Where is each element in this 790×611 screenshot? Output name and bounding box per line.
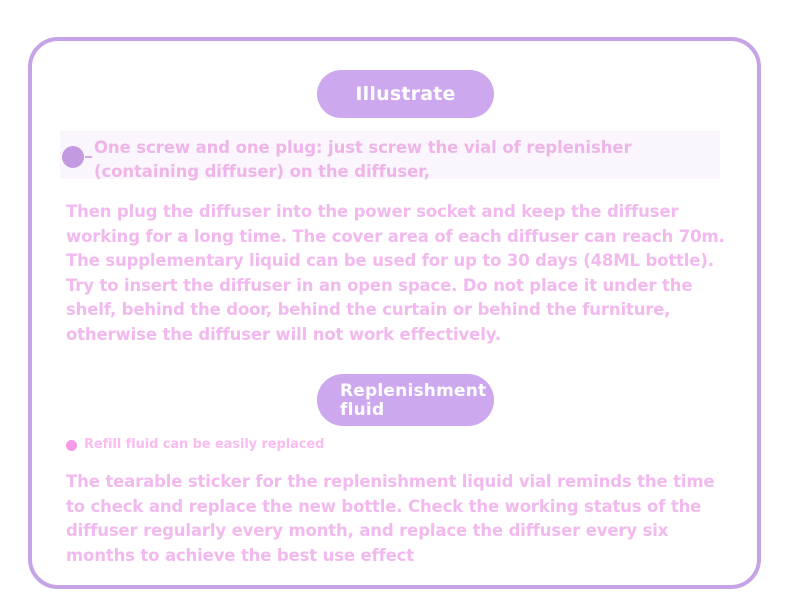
- bullet-item-one-screw-one-plug: One screw and one plug: just screw the v…: [62, 136, 732, 184]
- bullet-item-label: Refill fluid can be easily replaced: [84, 437, 324, 453]
- illustrate-paragraph: Then plug the diffuser into the power so…: [66, 200, 738, 347]
- section-heading-illustrate: Illustrate: [317, 70, 494, 118]
- bullet-item-refill-fluid: Refill fluid can be easily replaced: [66, 437, 566, 453]
- bullet-item-label: One screw and one plug: just screw the v…: [94, 136, 732, 184]
- replenishment-paragraph: The tearable sticker for the replenishme…: [66, 470, 738, 568]
- product-instruction-card: Illustrate One screw and one plug: just …: [0, 0, 790, 611]
- dash-icon: [85, 156, 92, 158]
- circle-bullet-icon: [62, 146, 84, 168]
- section-heading-replenishment-fluid: Replenishment fluid: [317, 374, 494, 426]
- circle-bullet-icon: [66, 440, 77, 451]
